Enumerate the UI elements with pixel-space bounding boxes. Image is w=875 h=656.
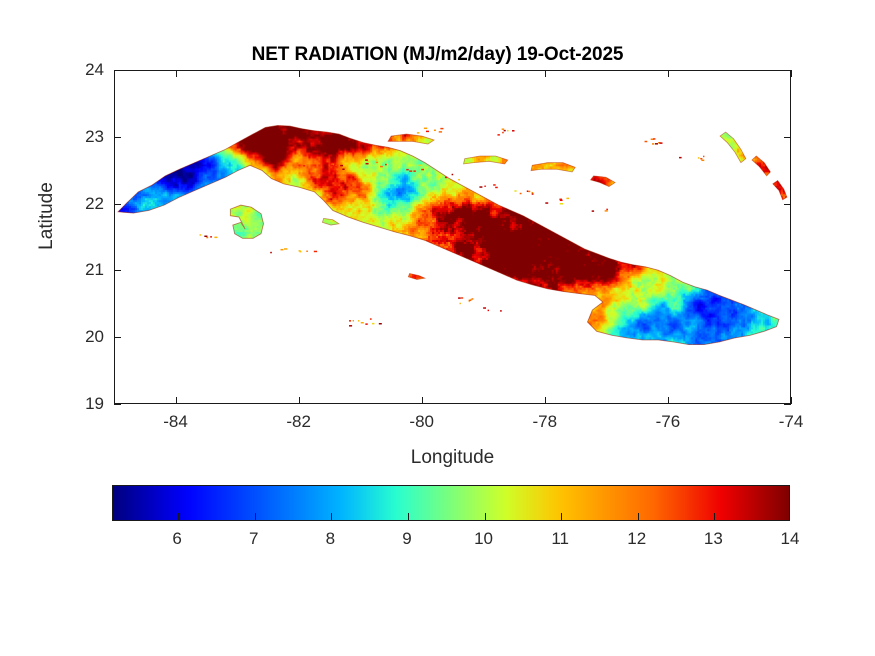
y-tick-label: 19 [58,394,104,414]
x-tick-label: -80 [409,412,434,432]
x-tick-mark [176,397,177,404]
y-tick-mark-right [784,270,791,271]
x-tick-mark [545,397,546,404]
colorbar [112,485,790,521]
colorbar-tick-label: 14 [781,529,800,549]
y-tick-mark [114,70,121,71]
map-axes [114,70,791,404]
colorbar-tick-label: 9 [402,529,411,549]
x-tick-mark [422,397,423,404]
colorbar-tick-label: 13 [704,529,723,549]
x-tick-label: -76 [656,412,681,432]
y-tick-mark-right [784,137,791,138]
colorbar-tick-mark [331,513,332,520]
x-tick-mark-top [545,70,546,77]
colorbar-tick-mark [178,513,179,520]
y-tick-label: 24 [58,60,104,80]
y-tick-mark [114,337,121,338]
colorbar-tick-mark [255,513,256,520]
colorbar-tick-label: 8 [326,529,335,549]
x-tick-mark [668,397,669,404]
y-tick-mark-right [784,70,791,71]
x-tick-mark-top [299,70,300,77]
y-tick-mark [114,404,121,405]
y-tick-mark-right [784,337,791,338]
x-tick-label: -82 [286,412,311,432]
y-axis-label: Latitude [36,136,58,296]
x-tick-mark-top [422,70,423,77]
y-tick-mark [114,270,121,271]
x-tick-mark-top [176,70,177,77]
colorbar-tick-label: 12 [627,529,646,549]
y-tick-mark-right [784,404,791,405]
colorbar-tick-mark [485,513,486,520]
y-tick-label: 21 [58,260,104,280]
y-tick-mark-right [784,204,791,205]
x-tick-mark [791,397,792,404]
y-tick-mark [114,204,121,205]
colorbar-tick-label: 11 [551,529,569,549]
y-tick-label: 23 [58,127,104,147]
net-radiation-heatmap [115,71,790,403]
y-tick-mark [114,137,121,138]
colorbar-tick-label: 7 [249,529,258,549]
x-tick-mark-top [791,70,792,77]
y-tick-label: 20 [58,327,104,347]
colorbar-tick-mark [638,513,639,520]
colorbar-tick-mark [408,513,409,520]
colorbar-tick-label: 10 [474,529,493,549]
x-tick-label: -78 [533,412,558,432]
page-title: NET RADIATION (MJ/m2/day) 19-Oct-2025 [0,44,875,66]
x-tick-mark [299,397,300,404]
x-tick-label: -74 [779,412,804,432]
y-tick-label: 22 [58,194,104,214]
colorbar-tick-label: 6 [172,529,181,549]
x-tick-label: -84 [163,412,188,432]
colorbar-tick-mark [561,513,562,520]
colorbar-tick-mark [714,513,715,520]
x-axis-label: Longitude [114,447,791,469]
figure-canvas: NET RADIATION (MJ/m2/day) 19-Oct-2025 -8… [0,0,875,656]
colorbar-gradient [113,486,789,520]
x-tick-mark-top [668,70,669,77]
